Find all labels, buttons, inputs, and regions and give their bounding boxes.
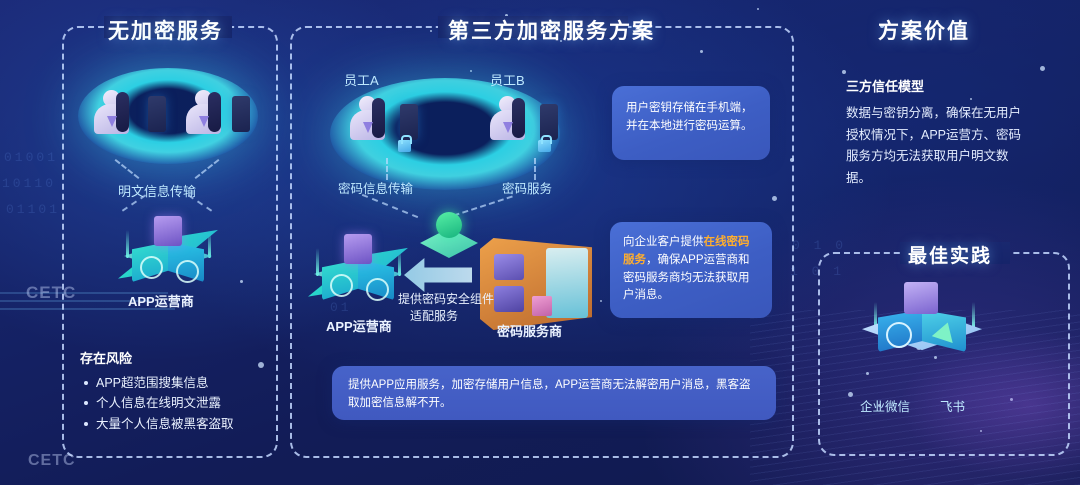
user-figure-right [186,90,234,140]
label-component-line1: 提供密码安全组件 [398,290,494,307]
infographic-canvas: 01001 10110 01101 0 1 0 1 0 1 01 无加密服务 第… [0,0,1080,485]
risk-list: 存在风险 APP超范围搜集信息 个人信息在线明文泄露 大量个人信息被黑客盗取 [80,348,260,434]
callout-app-service: 提供APP应用服务，加密存储用户信息，APP运营商无法解密用户消息，黑客盗取加密… [332,366,776,420]
label-employee-a: 员工A [344,70,379,89]
panel-title-right: 方案价值 [878,15,970,45]
device-slab-right [232,96,250,132]
connector-dash [386,158,388,180]
callout-key-storage: 用户密钥存储在手机端，并在本地进行密码运算。 [612,86,770,160]
label-crypto-transfer: 密码信息传输 [338,178,413,197]
risk-list-title: 存在风险 [80,348,260,367]
employee-a-figure [350,96,398,148]
callout-online-service: 向企业客户提供在线密码服务，确保APP运营商和密码服务商均无法获取用户消息。 [610,222,772,318]
cetc-logo-watermark: CETC [26,283,76,303]
callout-key-storage-text: 用户密钥存储在手机端，并在本地进行密码运算。 [626,100,756,136]
label-plaintext-transfer: 明文信息传输 [118,181,196,200]
cetc-logo-footer: CETC [28,452,76,470]
label-app-operator-middle: APP运营商 [326,316,392,335]
value-block-title: 三方信任模型 [846,76,1022,95]
device-slab-left [148,96,166,132]
label-crypto-service: 密码服务 [502,178,552,197]
label-component-line2: 适配服务 [410,307,458,324]
lock-icon-a [398,140,411,152]
label-app-feishu: 飞书 [940,396,965,415]
lock-icon-b [538,140,551,152]
best-practice-scene [862,280,1002,390]
binary-decor: 01001 [4,150,58,165]
binary-decor: 10110 [2,176,56,191]
callout-prefix: 向企业客户提供 [623,236,704,248]
wechat-icon [886,322,912,348]
user-figure-left [94,90,142,140]
app-operator-node-left [118,212,218,302]
connector-dash [534,158,536,180]
panel-title-middle: 第三方加密服务方案 [448,15,655,45]
label-app-operator-left: APP运营商 [128,291,194,310]
crypto-component-node [420,212,478,258]
employee-b-figure [490,96,538,148]
label-crypto-provider: 密码服务商 [497,321,562,340]
app-operator-node-middle [308,230,408,320]
risk-item: APP超范围搜集信息 [96,373,260,393]
label-employee-b: 员工B [490,70,525,89]
risk-items: APP超范围搜集信息 个人信息在线明文泄露 大量个人信息被黑客盗取 [80,373,260,434]
value-block-text: 数据与密钥分离，确保在无用户授权情况下，APP运营方、密码服务方均无法获取用户明… [846,103,1022,189]
binary-decor: 01101 [6,202,60,217]
callout-online-service-text: 向企业客户提供在线密码服务，确保APP运营商和密码服务商均无法获取用户消息。 [623,234,759,305]
binary-decor: 0 1 0 [792,238,846,253]
risk-item: 个人信息在线明文泄露 [96,393,260,413]
callout-app-service-text: 提供APP应用服务，加密存储用户信息，APP运营商无法解密用户消息，黑客盗取加密… [348,377,760,413]
risk-item: 大量个人信息被黑客盗取 [96,414,260,434]
label-app-wechat: 企业微信 [860,396,910,415]
panel-title-best-practice: 最佳实践 [908,241,992,268]
panel-title-left: 无加密服务 [108,15,223,45]
crypto-provider-server [480,238,592,330]
value-block-trust-model: 三方信任模型 数据与密钥分离，确保在无用户授权情况下，APP运营方、密码服务方均… [846,76,1022,189]
